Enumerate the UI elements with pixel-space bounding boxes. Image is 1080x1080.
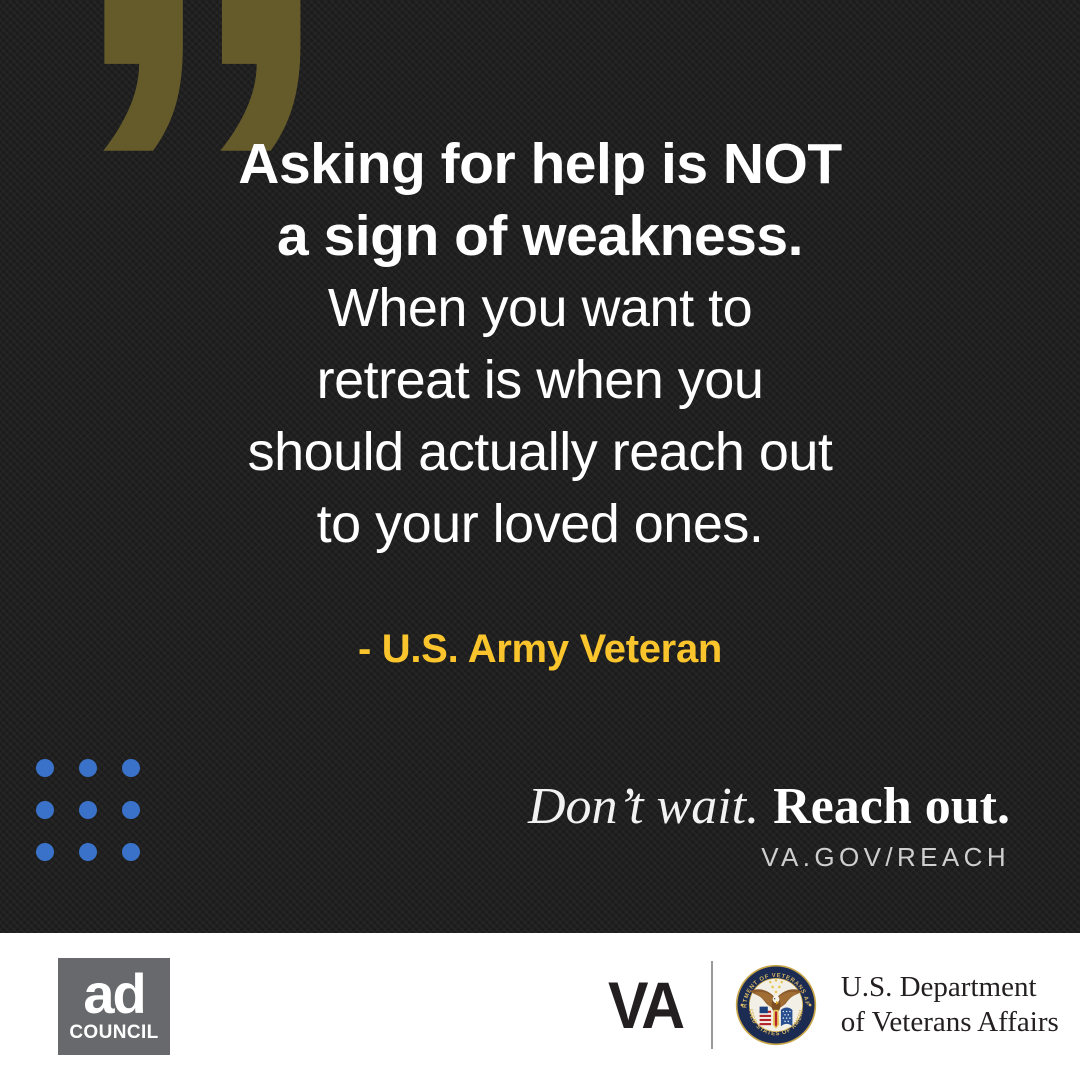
dot [122,843,140,861]
va-department-line-2: of Veterans Affairs [841,1005,1059,1040]
quote-line-6: to your loved ones. [0,488,1080,560]
ad-council-logo[interactable]: ad COUNCIL [58,958,170,1055]
tagline-text: Don’t wait.Reach out. [528,778,1010,836]
tagline-bold-part: Reach out. [773,778,1010,835]
dot [79,843,97,861]
quote-line-5: should actually reach out [0,416,1080,488]
vertical-divider [711,961,713,1049]
quote-attribution: - U.S. Army Veteran [0,627,1080,672]
campaign-tagline-lockup: Don’t wait.Reach out. VA.GOV/REACH [528,778,1010,873]
dot [122,759,140,777]
dot [36,759,54,777]
quote-line-2: a sign of weakness. [0,200,1080,272]
va-department-name: U.S. Department of Veterans Affairs [841,970,1059,1040]
va-wordmark: VA [608,972,682,1038]
va-department-line-1: U.S. Department [841,970,1059,1005]
quote-line-1: Asking for help is NOT [0,128,1080,200]
quote-line-3: When you want to [0,272,1080,344]
quote-line-4: retreat is when you [0,344,1080,416]
psa-advertisement: ” Asking for help is NOT a sign of weakn… [0,0,1080,1080]
quote-text-block: Asking for help is NOT a sign of weaknes… [0,128,1080,560]
campaign-url[interactable]: VA.GOV/REACH [528,842,1010,873]
va-logo-lockup[interactable]: VA DEPARTMENT OF VETERANS AFFAIRS [608,951,1059,1059]
dot [36,801,54,819]
dot [122,801,140,819]
dot [36,843,54,861]
dot-grid-decoration [36,759,140,861]
footer-logo-bar: ad COUNCIL VA DEPARTMENT O [0,933,1080,1080]
ad-council-wordmark-council: COUNCIL [58,1022,170,1044]
va-seal-icon: DEPARTMENT OF VETERANS AFFAIRS UNITED ST… [735,964,817,1046]
tagline-italic-part: Don’t wait. [528,778,759,835]
dot [79,759,97,777]
ad-council-wordmark-ad: ad [58,964,170,1024]
dot [79,801,97,819]
